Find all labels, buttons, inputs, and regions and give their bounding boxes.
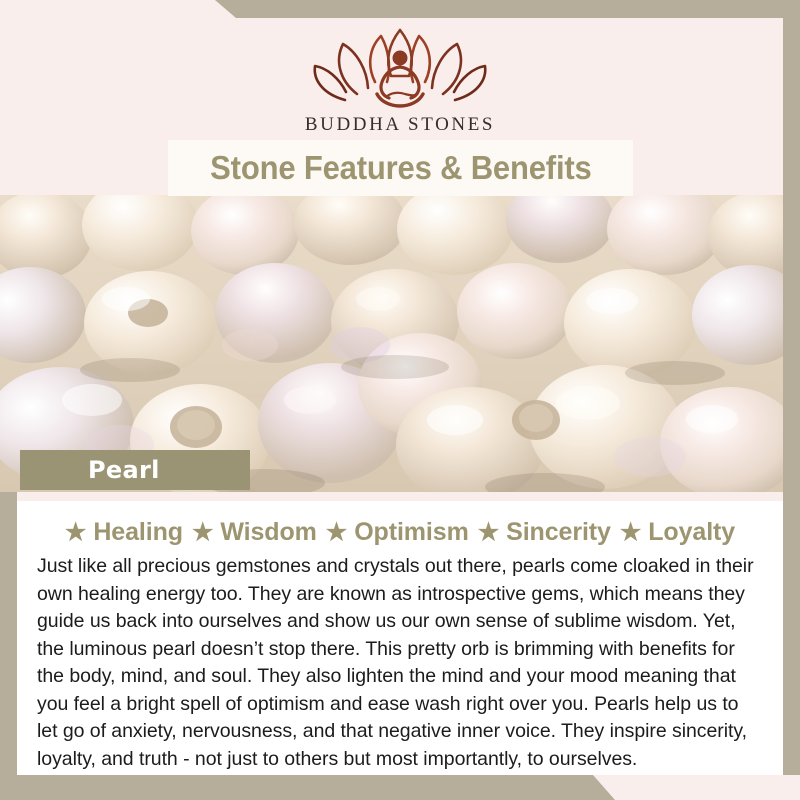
benefit-label: Wisdom [220,518,316,547]
stone-name: Pearl [88,456,160,484]
star-icon: ★ [326,521,347,545]
star-icon: ★ [192,521,213,545]
content-panel: ★ Healing ★ Wisdom ★ Optimism ★ Sincerit… [17,492,783,775]
benefit-wisdom: ★ Wisdom [183,518,317,547]
stone-description: Just like all precious gemstones and cry… [31,553,769,773]
star-icon: ★ [65,521,86,545]
pearl-photo [0,195,783,492]
stone-name-bar: Pearl [20,450,250,490]
brand-name: BUDDHA STONES [305,114,495,136]
benefit-sincerity: ★ Sincerity [469,518,611,547]
benefit-label: Optimism [354,518,469,547]
panel-seam [17,492,783,501]
poster: BUDDHA STONES Stone Features & Benefits [0,0,800,800]
benefit-label: Loyalty [648,518,735,547]
benefits-list: ★ Healing ★ Wisdom ★ Optimism ★ Sincerit… [31,518,769,547]
benefit-optimism: ★ Optimism [317,518,469,547]
brand-logo: BUDDHA STONES [0,22,800,136]
title-banner: Stone Features & Benefits [168,140,633,196]
benefit-label: Healing [93,518,183,547]
lotus-meditation-icon [305,22,495,110]
star-icon: ★ [620,521,641,545]
page-title: Stone Features & Benefits [210,149,591,187]
benefit-loyalty: ★ Loyalty [611,518,735,547]
benefit-healing: ★ Healing [65,518,183,547]
star-icon: ★ [478,521,499,545]
benefit-label: Sincerity [506,518,611,547]
